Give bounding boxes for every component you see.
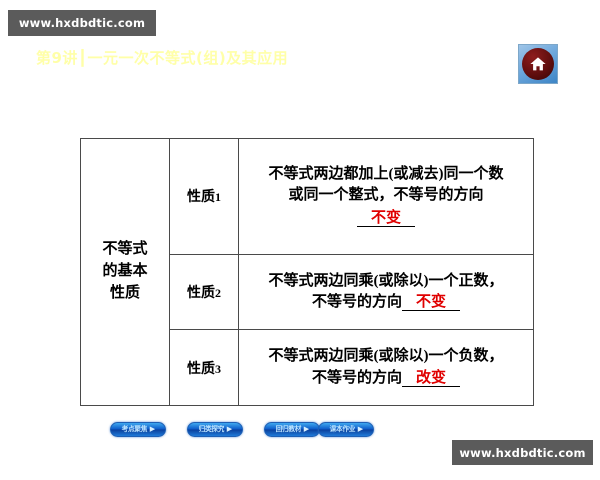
page-title: 第9讲┃一元一次不等式(组)及其应用 xyxy=(36,47,288,68)
table-row-header: 不等式 的基本 性质 xyxy=(81,139,170,406)
property-label-3: 性质3 xyxy=(170,330,239,406)
nav-button-2-label: 回归教材 xyxy=(276,426,301,433)
nav-button-3-label: 课本作业 xyxy=(330,426,355,433)
nav-button-1-label: 归类探究 xyxy=(199,426,224,433)
chevron-right-icon: ▶ xyxy=(227,426,232,433)
home-icon xyxy=(522,48,554,80)
watermark-bottom: www.hxdbdtic.com xyxy=(452,440,593,465)
row-header-line-2: 的基本 xyxy=(81,261,169,283)
property-blank-2: 不变 xyxy=(402,294,460,311)
nav-button-3[interactable]: 课本作业 ▶ xyxy=(318,422,374,437)
property-number-1: 1 xyxy=(215,190,221,204)
property-body-3-line-2: 不等号的方向改变 xyxy=(239,368,533,389)
property-body-1-line-2: 或同一个整式，不等号的方向 xyxy=(239,185,533,206)
row-header-line-3: 性质 xyxy=(81,283,169,305)
property-label-1: 性质1 xyxy=(170,139,239,255)
property-body-3-line-2-text: 不等号的方向 xyxy=(312,370,402,386)
property-blank-1-wrapper: 不变 xyxy=(357,208,415,229)
row-header-line-1: 不等式 xyxy=(81,239,169,261)
slide-canvas: www.hxdbdtic.com 第9讲┃一元一次不等式(组)及其应用 不等式 … xyxy=(0,0,600,480)
nav-button-0-label: 考点聚焦 xyxy=(122,426,147,433)
nav-button-0[interactable]: 考点聚焦 ▶ xyxy=(110,422,166,437)
property-body-2: 不等式两边同乘(或除以)一个正数， 不等号的方向不变 xyxy=(239,254,534,330)
nav-button-2[interactable]: 回归教材 ▶ xyxy=(264,422,320,437)
property-blank-3: 改变 xyxy=(402,370,460,387)
property-blank-1: 不变 xyxy=(357,210,415,227)
home-button[interactable] xyxy=(518,44,558,84)
property-label-2: 性质2 xyxy=(170,254,239,330)
property-body-1: 不等式两边都加上(或减去)同一个数 或同一个整式，不等号的方向 不变 xyxy=(239,139,534,255)
property-number-3: 3 xyxy=(215,362,221,376)
table-row: 不等式 的基本 性质 性质1 不等式两边都加上(或减去)同一个数 或同一个整式，… xyxy=(81,139,534,255)
property-body-2-line-2: 不等号的方向不变 xyxy=(239,292,533,313)
chevron-right-icon: ▶ xyxy=(358,426,363,433)
watermark-top: www.hxdbdtic.com xyxy=(8,10,156,36)
chevron-right-icon: ▶ xyxy=(304,426,309,433)
chevron-right-icon: ▶ xyxy=(150,426,155,433)
property-number-2: 2 xyxy=(215,286,221,300)
property-body-3-line-1: 不等式两边同乘(或除以)一个负数， xyxy=(239,346,533,367)
property-body-3: 不等式两边同乘(或除以)一个负数， 不等号的方向改变 xyxy=(239,330,534,406)
property-body-2-line-2-text: 不等号的方向 xyxy=(312,294,402,310)
property-body-1-line-1: 不等式两边都加上(或减去)同一个数 xyxy=(239,164,533,185)
nav-button-1[interactable]: 归类探究 ▶ xyxy=(187,422,243,437)
property-body-2-line-1: 不等式两边同乘(或除以)一个正数， xyxy=(239,271,533,292)
inequality-properties-table: 不等式 的基本 性质 性质1 不等式两边都加上(或减去)同一个数 或同一个整式，… xyxy=(80,138,534,406)
